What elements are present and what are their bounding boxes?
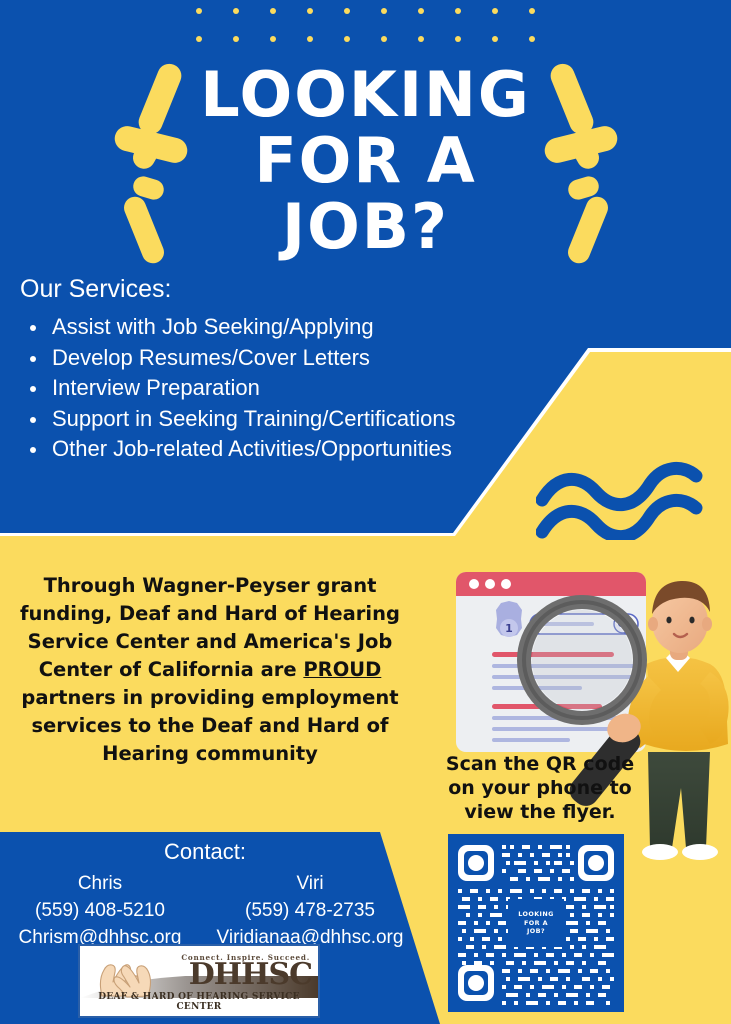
dot (307, 36, 313, 42)
dot (233, 36, 239, 42)
contact-phone[interactable]: (559) 478-2735 (215, 897, 405, 924)
list-item: Support in Seeking Training/Certificatio… (42, 404, 580, 435)
list-item: Interview Preparation (42, 373, 580, 404)
dot (455, 8, 461, 14)
dot (492, 8, 498, 14)
title-line-3: JOB? (0, 194, 731, 260)
contact-columns: Chris (559) 408-5210 Chrism@dhhsc.org Vi… (0, 870, 410, 951)
dot (418, 36, 424, 42)
logo-subtitle: DEAF & HARD OF HEARING SERVICE CENTER (80, 992, 318, 1012)
qr-center-line-1: LOOKING (518, 910, 553, 919)
title-line-2: FOR A (0, 128, 731, 194)
dot (381, 36, 387, 42)
dot (381, 8, 387, 14)
list-item: Assist with Job Seeking/Applying (42, 312, 580, 343)
dot (196, 8, 202, 14)
dot (233, 8, 239, 14)
contact-name: Viri (215, 870, 405, 897)
dot-row (196, 8, 535, 14)
paragraph-part-2: partners in providing employment service… (21, 686, 398, 765)
dot (529, 36, 535, 42)
contact-person-viri: Viri (559) 478-2735 Viridianaa@dhhsc.org (215, 870, 405, 951)
qr-center-label: LOOKING FOR A JOB? (508, 899, 564, 947)
partnership-paragraph: Through Wagner-Peyser grant funding, Dea… (14, 572, 406, 768)
dot (196, 36, 202, 42)
dot (307, 8, 313, 14)
contact-person-chris: Chris (559) 408-5210 Chrism@dhhsc.org (5, 870, 195, 951)
dot (418, 8, 424, 14)
dhhsc-logo: Connect. Inspire. Succeed. DHHSC DEAF & … (78, 944, 320, 1018)
services-heading: Our Services: (20, 272, 580, 306)
dot (529, 8, 535, 14)
dot (344, 36, 350, 42)
scan-instruction-text: Scan the QR code on your phone to view t… (432, 752, 648, 824)
dot-row (196, 36, 535, 42)
contact-name: Chris (5, 870, 195, 897)
qr-center-line-3: JOB? (518, 927, 553, 936)
contact-phone[interactable]: (559) 408-5210 (5, 897, 195, 924)
dot (455, 36, 461, 42)
title-line-1: LOOKING (0, 62, 731, 128)
dot (344, 8, 350, 14)
wavy-lines-icon (536, 460, 726, 540)
dot (492, 36, 498, 42)
qr-code[interactable]: LOOKING FOR A JOB? (448, 834, 624, 1012)
qr-center-line-2: FOR A (518, 919, 553, 928)
dot (270, 36, 276, 42)
services-list: Assist with Job Seeking/Applying Develop… (20, 312, 580, 465)
dot-grid-decoration (0, 8, 731, 42)
contact-label: Contact: (0, 838, 410, 866)
services-section: Our Services: Assist with Job Seeking/Ap… (20, 272, 580, 465)
paragraph-emphasis-proud: PROUD (303, 658, 381, 681)
page-title: LOOKING FOR A JOB? (0, 62, 731, 260)
dot (270, 8, 276, 14)
logo-acronym: DHHSC (189, 959, 312, 991)
contact-section: Contact: Chris (559) 408-5210 Chrism@dhh… (0, 838, 410, 951)
job-flyer: LOOKING FOR A JOB? Our Services: Assist … (0, 0, 731, 1024)
list-item: Other Job-related Activities/Opportuniti… (42, 434, 580, 465)
list-item: Develop Resumes/Cover Letters (42, 343, 580, 374)
svg-text:1: 1 (505, 622, 513, 635)
